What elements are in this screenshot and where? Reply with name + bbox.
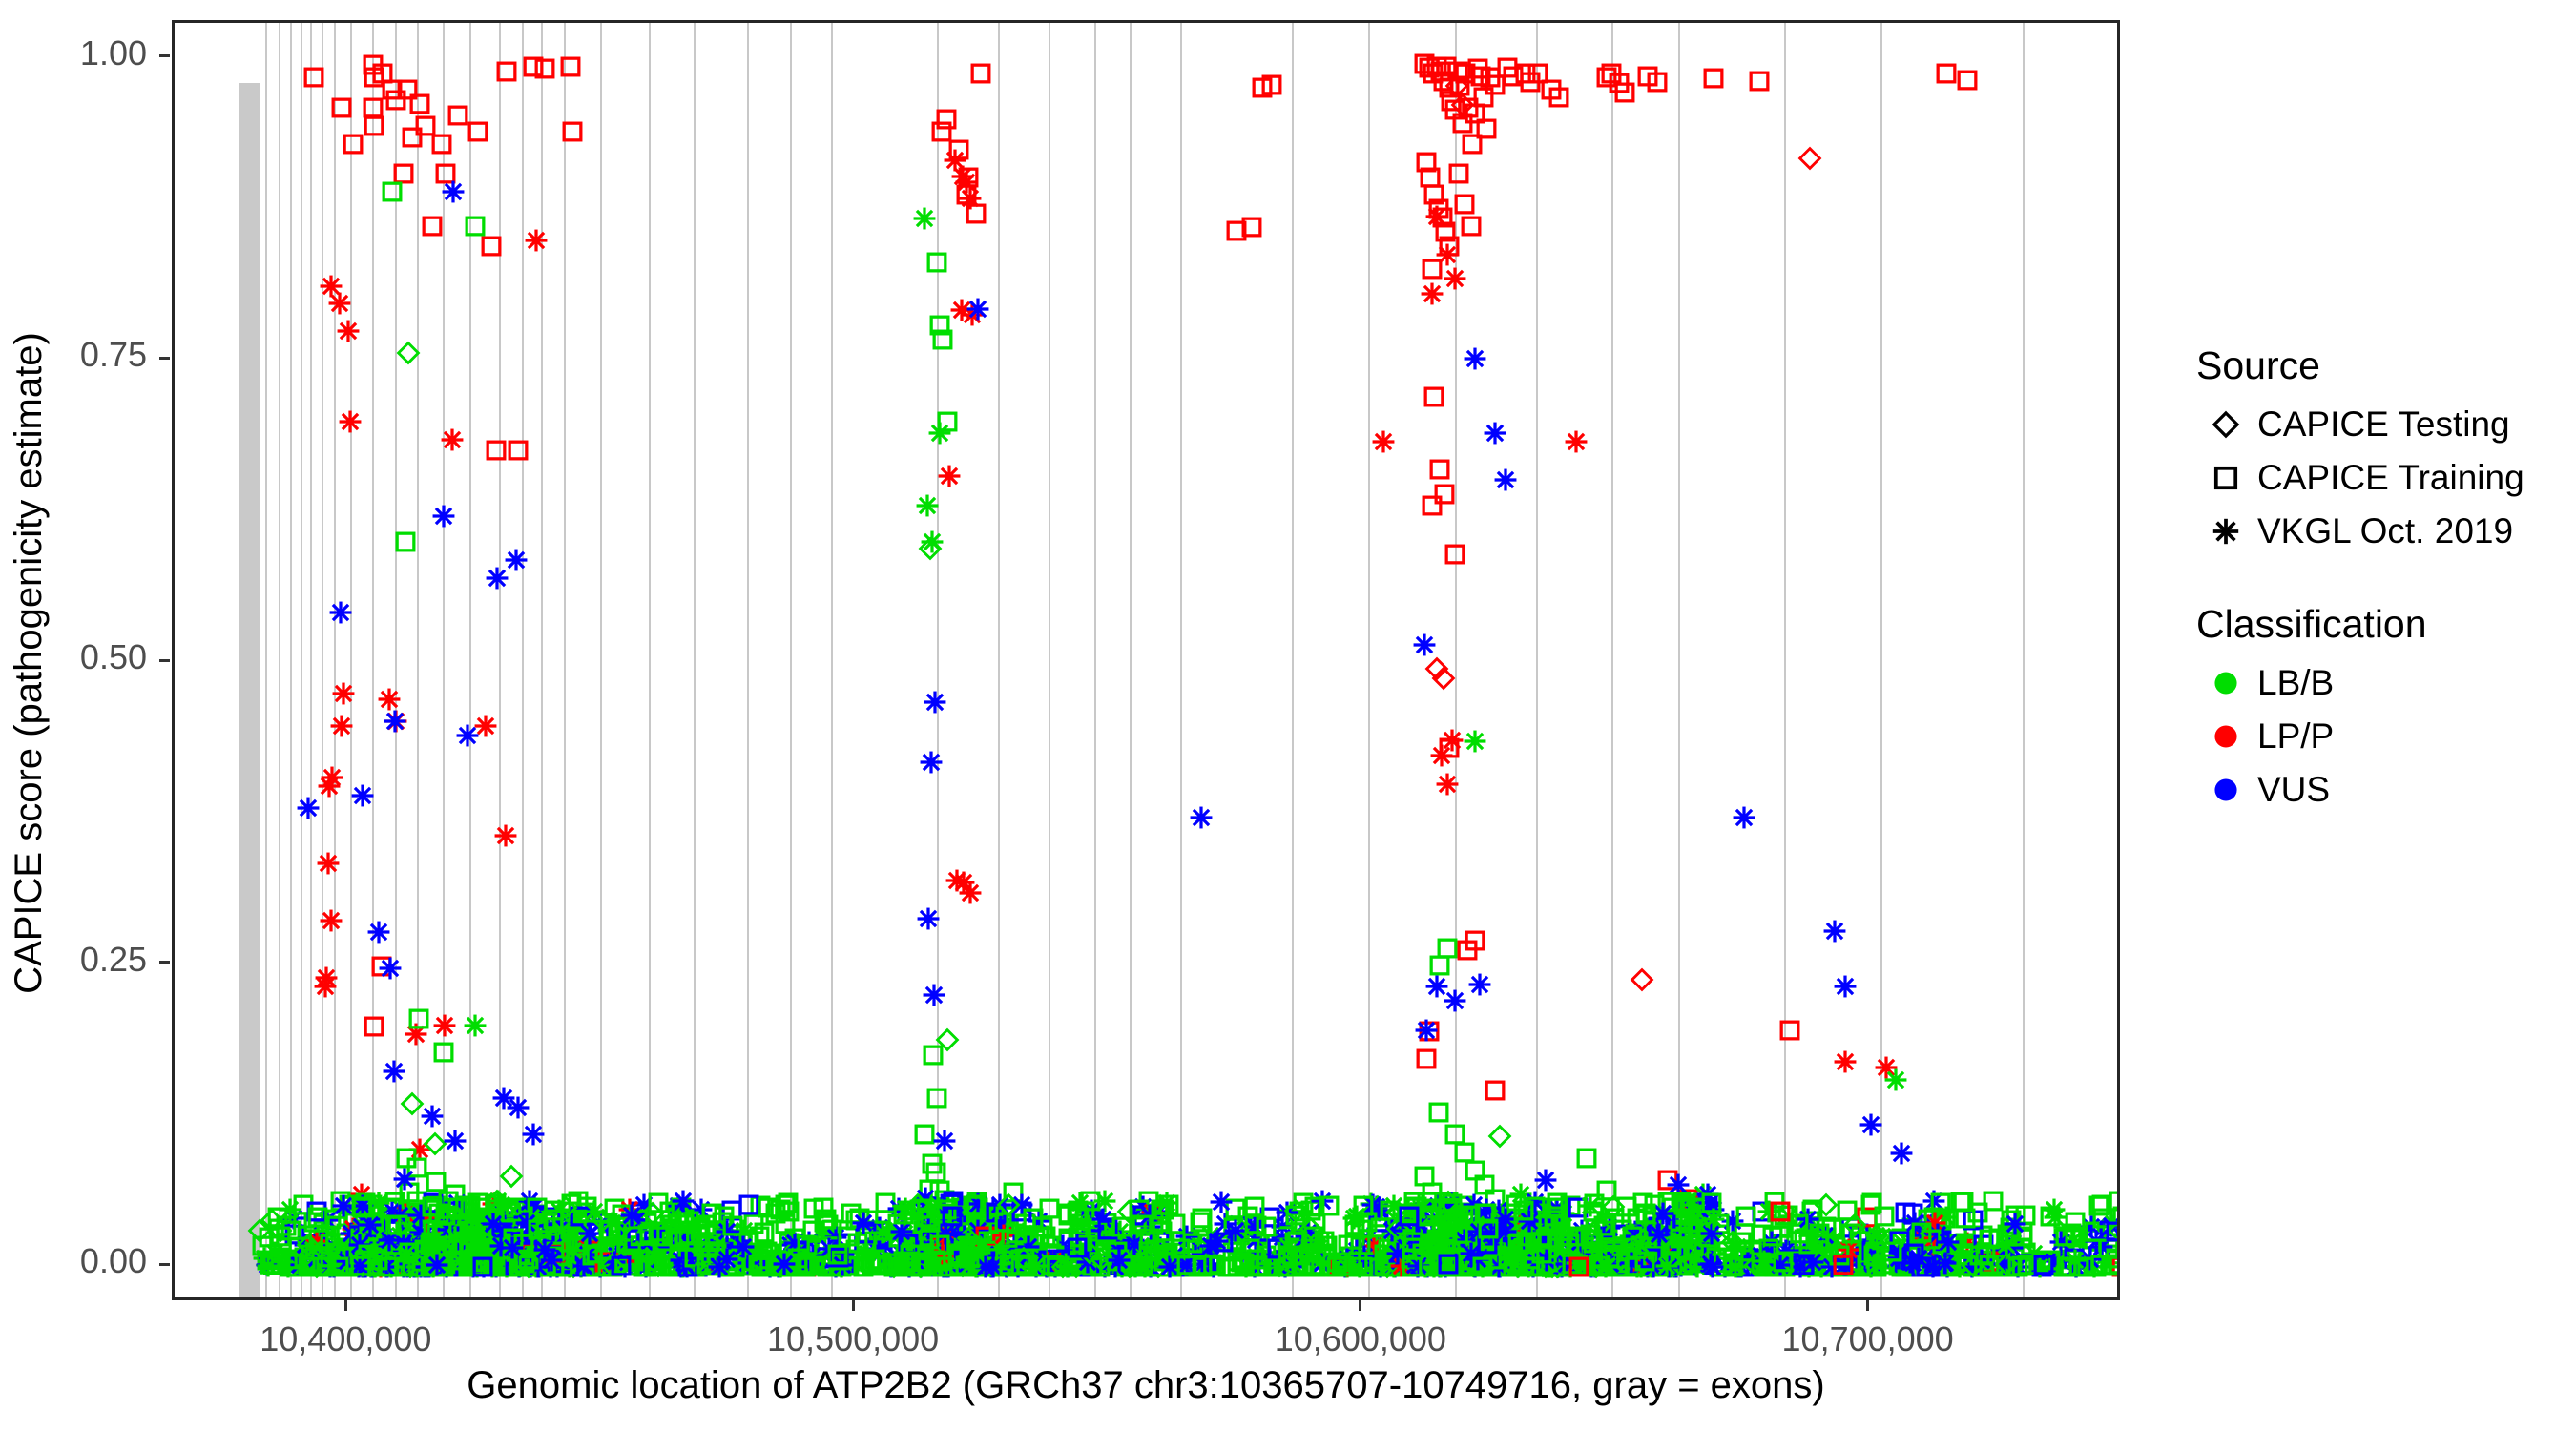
data-point (1490, 1228, 1515, 1253)
data-point (1813, 1223, 1838, 1248)
data-point (584, 1241, 609, 1266)
data-point (866, 1218, 891, 1243)
data-point (1137, 1226, 1162, 1251)
data-point (1560, 1252, 1585, 1276)
data-point (1527, 1255, 1551, 1279)
data-point (722, 1255, 747, 1279)
data-point (540, 1215, 565, 1240)
data-point (1695, 1182, 1720, 1207)
data-point (1027, 1255, 1051, 1279)
data-point (316, 851, 341, 876)
legend-item[interactable]: VKGL Oct. 2019 (2194, 505, 2576, 558)
data-point (1431, 1244, 1456, 1269)
data-point (1570, 1231, 1595, 1255)
data-point (918, 536, 943, 561)
data-point (403, 1255, 427, 1279)
legend-item[interactable]: VUS (2194, 763, 2576, 817)
data-point (541, 1214, 566, 1239)
data-point (574, 1200, 599, 1225)
data-point (1594, 1247, 1619, 1272)
data-point (1220, 1255, 1245, 1279)
plot-panel (172, 20, 2120, 1300)
data-point (936, 1196, 961, 1221)
data-point (963, 1252, 987, 1276)
data-point (1378, 1251, 1402, 1275)
data-point (353, 1191, 378, 1215)
data-point (1549, 1255, 1574, 1279)
data-point (1129, 1234, 1153, 1258)
data-point (390, 1255, 415, 1279)
data-point (1457, 1248, 1482, 1273)
data-point (1299, 1255, 1324, 1279)
data-point (503, 1198, 528, 1223)
data-point (1493, 1223, 1518, 1248)
data-point (882, 1255, 906, 1279)
data-point (621, 1210, 646, 1234)
data-point (1299, 1253, 1324, 1277)
data-point (724, 1248, 749, 1273)
data-point (1483, 1225, 1507, 1250)
data-point (491, 1255, 516, 1279)
data-point (1432, 1235, 1457, 1260)
data-point (1540, 1255, 1565, 1279)
data-point (1389, 1254, 1414, 1278)
data-point (1466, 1219, 1491, 1244)
data-point (1612, 1250, 1637, 1275)
data-point (1583, 1255, 1608, 1279)
data-point (895, 1251, 920, 1275)
data-point (821, 1244, 845, 1269)
data-point (2062, 1246, 2087, 1271)
data-point (1244, 1254, 1269, 1278)
data-point (908, 1255, 933, 1279)
data-point (825, 1242, 850, 1267)
data-point (1174, 1253, 1199, 1277)
data-point (1490, 1205, 1515, 1230)
data-point (1427, 1248, 1452, 1273)
data-point (1855, 1254, 1880, 1278)
data-point (443, 1225, 467, 1250)
data-point (1440, 1192, 1465, 1216)
data-point (1043, 1255, 1068, 1279)
data-point (1032, 1249, 1057, 1274)
data-point (600, 1211, 625, 1235)
data-point (469, 1248, 494, 1273)
data-point (349, 1194, 374, 1219)
data-point (667, 1242, 692, 1267)
data-point (1508, 1182, 1533, 1207)
data-point (1889, 1226, 1914, 1251)
data-point (1972, 1254, 1997, 1278)
data-point (1453, 1251, 1478, 1275)
data-point (1219, 1225, 1244, 1250)
data-point (576, 1238, 601, 1263)
data-point (1107, 1247, 1132, 1272)
data-point (843, 1237, 868, 1262)
data-point (484, 438, 509, 463)
data-point (1822, 1239, 1847, 1264)
data-point (387, 1223, 412, 1248)
data-point (904, 1250, 929, 1275)
data-point (515, 1255, 540, 1279)
data-point (1436, 1209, 1461, 1234)
data-point (1713, 1255, 1737, 1279)
data-point (446, 103, 470, 128)
data-point (635, 1240, 660, 1265)
data-point (1397, 1209, 1422, 1234)
data-point (1033, 1224, 1058, 1249)
data-point (1079, 1210, 1104, 1234)
data-point (829, 1255, 854, 1279)
data-point (553, 1255, 578, 1279)
data-point (1720, 1230, 1745, 1255)
data-point (1509, 1254, 1534, 1278)
data-point (1901, 1241, 1926, 1266)
data-point (1198, 1223, 1223, 1248)
data-point (1265, 1236, 1290, 1261)
data-point (909, 1255, 934, 1279)
data-point (293, 1233, 318, 1257)
data-point (1300, 1232, 1325, 1256)
data-point (888, 1255, 913, 1279)
data-point (1400, 1255, 1424, 1279)
data-point (551, 1255, 575, 1279)
data-point (944, 1217, 968, 1242)
data-point (1611, 1235, 1636, 1260)
data-point (965, 1242, 989, 1267)
data-point (443, 1195, 467, 1220)
data-point (1393, 1220, 1418, 1245)
data-point (940, 1204, 965, 1229)
data-point (1924, 1254, 1949, 1278)
data-point (1295, 1223, 1319, 1248)
data-point (1518, 1245, 1543, 1270)
data-point (2063, 1224, 2088, 1249)
data-point (783, 1250, 808, 1275)
data-point (962, 1225, 987, 1250)
data-point (1234, 1255, 1258, 1279)
data-point (1919, 1227, 1943, 1252)
data-point (1664, 1234, 1689, 1259)
data-point (1345, 1250, 1370, 1275)
data-point (335, 1249, 360, 1274)
data-point (377, 687, 402, 712)
data-point (509, 1241, 533, 1266)
data-point (1016, 1234, 1041, 1259)
data-point (1566, 1195, 1590, 1220)
data-point (965, 1255, 989, 1279)
data-point (1504, 1214, 1528, 1239)
data-point (362, 114, 386, 138)
data-point (367, 1250, 392, 1275)
data-point (406, 1234, 431, 1258)
data-point (1506, 1232, 1530, 1256)
data-point (970, 1255, 995, 1279)
data-point (497, 1252, 522, 1276)
data-point (2097, 1218, 2120, 1243)
data-point (1880, 1239, 1904, 1264)
data-point (1947, 1255, 1972, 1279)
data-point (1855, 1253, 1880, 1277)
data-point (1190, 1252, 1215, 1276)
legend-item[interactable]: CAPICE Testing (2194, 398, 2576, 451)
data-point (1416, 1228, 1441, 1253)
data-point (1940, 1234, 1964, 1258)
data-point (1965, 1200, 1990, 1225)
exon-line (1049, 23, 1050, 1297)
data-point (1581, 1239, 1606, 1264)
data-point (1672, 1254, 1696, 1278)
data-point (1512, 1245, 1537, 1270)
data-point (1567, 1224, 1591, 1249)
data-point (1476, 1248, 1501, 1273)
data-point (1655, 1190, 1680, 1214)
data-point (1469, 1252, 1494, 1276)
data-point (1224, 218, 1249, 243)
data-point (1385, 1248, 1410, 1273)
data-point (798, 1252, 822, 1276)
data-point (1681, 1227, 1706, 1252)
data-point (911, 1250, 936, 1275)
data-point (902, 1247, 926, 1272)
data-point (937, 464, 962, 488)
data-point (880, 1249, 904, 1274)
circle-icon (2194, 774, 2257, 806)
data-point (401, 1200, 426, 1225)
data-point (1936, 1246, 1961, 1271)
data-point (1499, 1234, 1524, 1259)
data-point (671, 1255, 696, 1279)
data-point (1066, 1198, 1091, 1223)
data-point (782, 1226, 807, 1251)
data-point (755, 1247, 779, 1272)
data-point (1545, 1249, 1569, 1274)
legend-item[interactable]: CAPICE Training (2194, 451, 2576, 505)
data-point (575, 1242, 600, 1267)
data-point (349, 1214, 374, 1239)
data-point (296, 1254, 321, 1278)
data-point (634, 1253, 659, 1277)
data-point (1552, 1224, 1577, 1249)
data-point (1298, 1198, 1323, 1223)
data-point (1628, 1251, 1652, 1275)
data-point (1540, 1229, 1565, 1254)
data-point (1579, 1227, 1604, 1252)
data-point (1440, 728, 1465, 753)
data-point (616, 1221, 641, 1246)
data-point (1155, 1242, 1180, 1267)
data-point (455, 1194, 480, 1219)
data-point (416, 1255, 441, 1279)
data-point (1309, 1252, 1334, 1276)
data-point (954, 170, 979, 195)
data-point (704, 1251, 729, 1275)
data-point (1232, 1251, 1257, 1275)
data-point (1415, 1190, 1440, 1214)
data-point (555, 1255, 580, 1279)
data-point (790, 1252, 815, 1276)
data-point (981, 1255, 1006, 1279)
data-point (1415, 1247, 1440, 1272)
data-point (1471, 1255, 1496, 1279)
data-point (1493, 1207, 1518, 1232)
data-point (1133, 1231, 1158, 1255)
data-point (1623, 1222, 1648, 1247)
data-point (1197, 1254, 1222, 1278)
data-point (296, 796, 321, 820)
data-point (918, 1254, 943, 1278)
data-point (354, 1227, 379, 1252)
data-point (957, 1246, 982, 1271)
data-point (1593, 1255, 1618, 1279)
data-point (1011, 1221, 1036, 1246)
data-point (549, 1218, 573, 1243)
data-point (481, 1208, 506, 1233)
data-point (426, 1245, 450, 1270)
data-point (325, 1251, 350, 1275)
data-point (893, 1255, 918, 1279)
data-point (539, 1231, 564, 1255)
data-point (964, 1239, 988, 1264)
data-point (954, 182, 979, 207)
data-point (1951, 1190, 1976, 1214)
data-point (1735, 1250, 1760, 1275)
data-point (979, 1255, 1004, 1279)
data-point (900, 1253, 924, 1277)
data-point (1267, 1254, 1292, 1278)
data-point (1402, 1249, 1427, 1274)
data-point (1099, 1227, 1124, 1252)
data-point (1956, 1243, 1981, 1268)
data-point (723, 1253, 748, 1277)
data-point (1438, 1239, 1463, 1264)
legend-item[interactable]: LB/B (2194, 656, 2576, 710)
data-point (481, 1208, 506, 1233)
data-point (1508, 1255, 1533, 1279)
data-point (1840, 1249, 1865, 1274)
data-point (1275, 1235, 1299, 1260)
data-point (526, 1248, 551, 1273)
data-point (737, 1192, 761, 1217)
data-point (1864, 1253, 1889, 1277)
y-tick-label: 0.25 (80, 940, 147, 980)
data-point (614, 1240, 639, 1265)
data-point (613, 1211, 638, 1235)
data-point (1184, 1255, 1209, 1279)
data-point (1050, 1255, 1075, 1279)
data-point (1315, 1234, 1340, 1258)
data-point (912, 206, 937, 231)
data-point (1149, 1210, 1174, 1234)
data-point (1684, 1254, 1709, 1278)
data-point (666, 1195, 691, 1220)
data-point (460, 1250, 485, 1275)
data-point (1292, 1235, 1317, 1260)
data-point (1378, 1198, 1402, 1223)
data-point (1488, 1255, 1513, 1279)
data-point (919, 1232, 944, 1256)
data-point (1612, 1253, 1637, 1277)
data-point (1412, 1243, 1437, 1268)
data-point (1889, 1236, 1914, 1261)
data-point (1385, 1241, 1410, 1266)
data-point (777, 1231, 801, 1255)
data-point (939, 1242, 964, 1267)
data-point (1811, 1225, 1836, 1250)
data-point (1641, 1246, 1666, 1271)
data-point (1402, 1247, 1426, 1272)
data-point (1355, 1250, 1380, 1275)
data-point (1238, 1250, 1263, 1275)
data-point (1527, 1224, 1552, 1249)
exon-line (301, 23, 302, 1297)
data-point (806, 1252, 831, 1276)
data-point (1391, 1226, 1416, 1251)
data-point (1395, 1215, 1420, 1240)
data-point (1401, 1254, 1425, 1278)
data-point (891, 1202, 916, 1227)
data-point (1596, 1248, 1621, 1273)
data-point (965, 1190, 989, 1214)
data-point (1146, 1255, 1171, 1279)
data-point (1361, 1192, 1385, 1217)
data-point (1056, 1226, 1081, 1251)
data-point (260, 1208, 284, 1233)
data-point (1068, 1191, 1092, 1215)
data-point (1527, 1212, 1552, 1236)
data-point (1189, 805, 1214, 830)
data-point (946, 1255, 971, 1279)
data-point (513, 1244, 538, 1269)
data-point (1393, 1234, 1418, 1259)
data-point (1788, 1221, 1813, 1246)
data-point (1554, 1252, 1579, 1276)
data-point (460, 1245, 485, 1270)
data-point (1540, 1232, 1565, 1256)
data-point (1659, 1232, 1684, 1256)
data-point (1760, 1224, 1785, 1249)
data-point (966, 1255, 990, 1279)
data-point (460, 1234, 485, 1258)
data-point (949, 1252, 974, 1276)
data-point (1534, 1243, 1559, 1268)
data-point (1725, 1234, 1750, 1259)
data-point (525, 1230, 550, 1255)
data-point (1171, 1254, 1195, 1278)
data-point (1632, 1249, 1657, 1274)
data-point (1969, 1248, 1994, 1273)
data-point (1752, 1255, 1776, 1279)
data-point (1039, 1253, 1064, 1277)
data-point (702, 1254, 727, 1278)
data-point (958, 1234, 983, 1258)
data-point (1421, 61, 1445, 86)
data-point (1077, 1245, 1102, 1270)
data-point (1546, 1248, 1570, 1273)
data-point (1254, 1214, 1278, 1239)
data-point (945, 1254, 969, 1278)
legend-item[interactable]: LP/P (2194, 710, 2576, 763)
data-point (1587, 1214, 1611, 1239)
data-point (1292, 1253, 1317, 1277)
data-point (1589, 1252, 1613, 1276)
data-point (1910, 1226, 1935, 1251)
data-point (370, 61, 395, 86)
data-point (1542, 1253, 1567, 1277)
data-point (1588, 1247, 1612, 1272)
data-point (481, 1192, 506, 1216)
data-point (1833, 1049, 1858, 1074)
